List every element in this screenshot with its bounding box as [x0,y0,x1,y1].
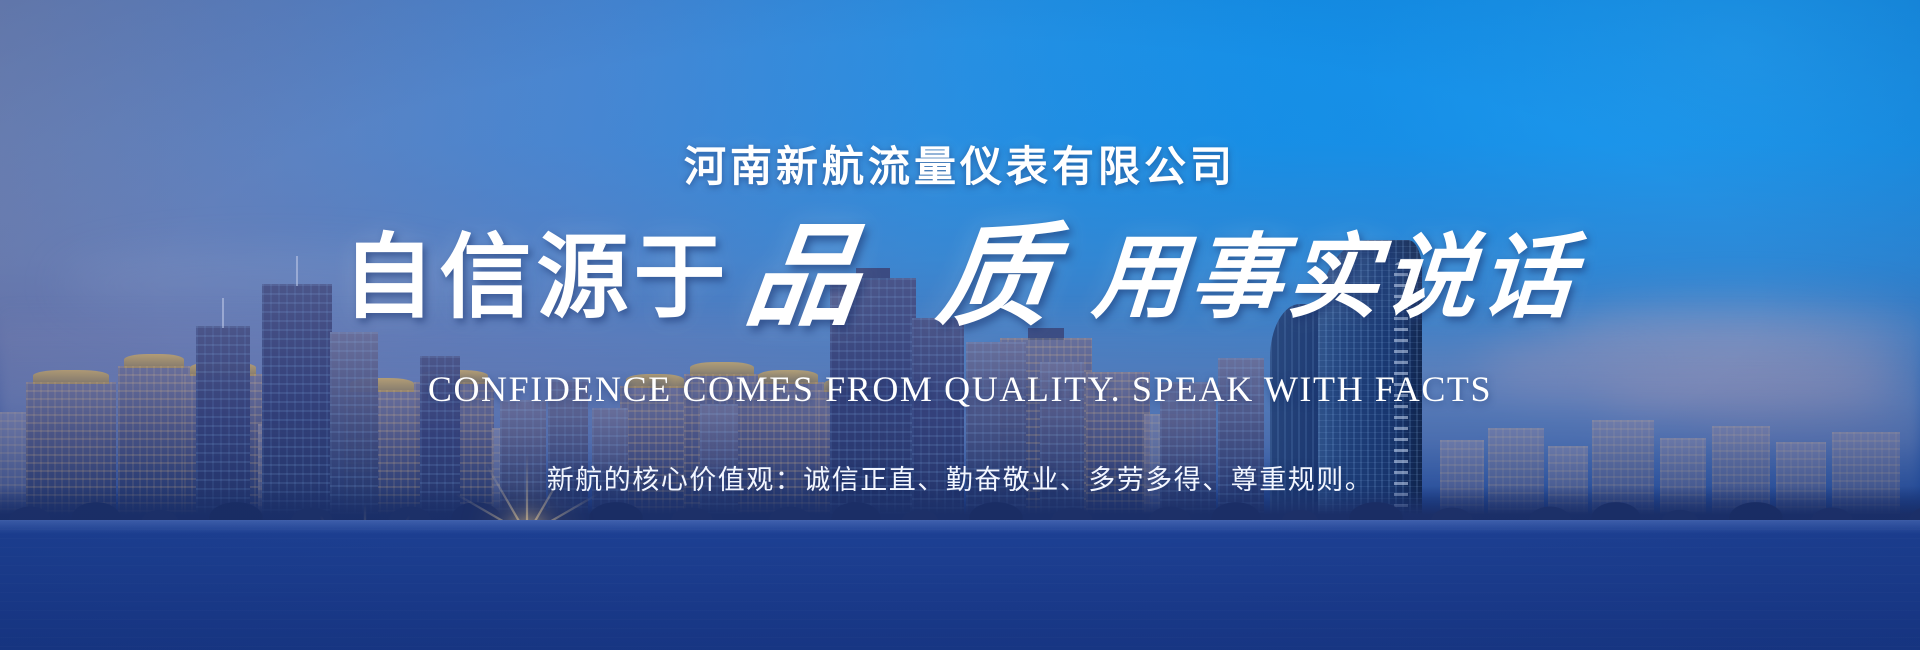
banner-text-block: 河南新航流量仪表有限公司 自信源于品 质用事实说话 CONFIDENCE COM… [0,0,1920,650]
hero-banner: 河南新航流量仪表有限公司 自信源于品 质用事实说话 CONFIDENCE COM… [0,0,1920,650]
core-values-statement: 新航的核心价值观：诚信正直、勤奋敬业、多劳多得、尊重规则。 [0,458,1920,497]
headline-slogan: 自信源于品 质用事实说话 [0,222,1920,334]
headline-part-3: 用事实说话 [1089,232,1580,324]
english-subtitle: CONFIDENCE COMES FROM QUALITY. SPEAK WIT… [0,368,1920,410]
headline-part-1: 自信源于 [342,232,730,324]
company-name: 河南新航流量仪表有限公司 [0,143,1920,191]
headline-emphasis-quality: 品 质 [724,222,1100,334]
